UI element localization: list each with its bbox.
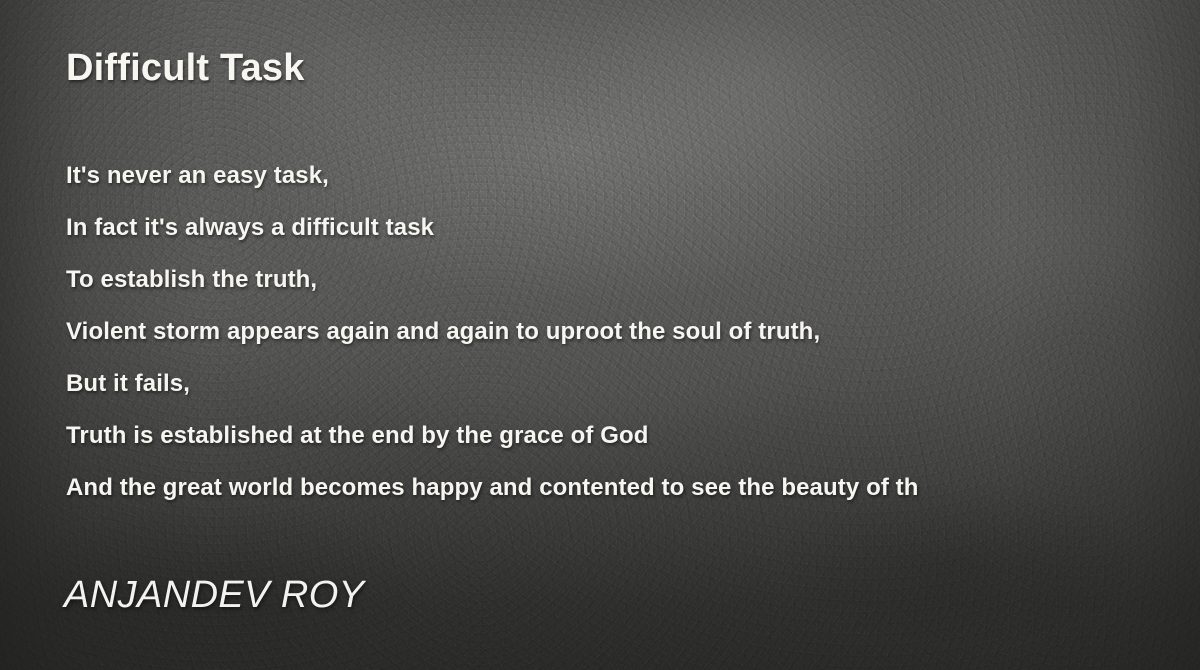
page-title: Difficult Task — [66, 46, 305, 90]
poem-line: To establish the truth, — [66, 262, 1200, 314]
poem-line: Violent storm appears again and again to… — [66, 314, 1200, 366]
poem-line: But it fails, — [66, 366, 1200, 418]
poem-card: Difficult Task It's never an easy task, … — [0, 0, 1200, 670]
poem-line: It's never an easy task, — [66, 158, 1200, 210]
poem-body: It's never an easy task, In fact it's al… — [66, 158, 1200, 522]
poem-line: In fact it's always a difficult task — [66, 210, 1200, 262]
author-name: ANJANDEV ROY — [64, 572, 364, 618]
poem-line: And the great world becomes happy and co… — [66, 470, 1200, 522]
poem-line: Truth is established at the end by the g… — [66, 418, 1200, 470]
